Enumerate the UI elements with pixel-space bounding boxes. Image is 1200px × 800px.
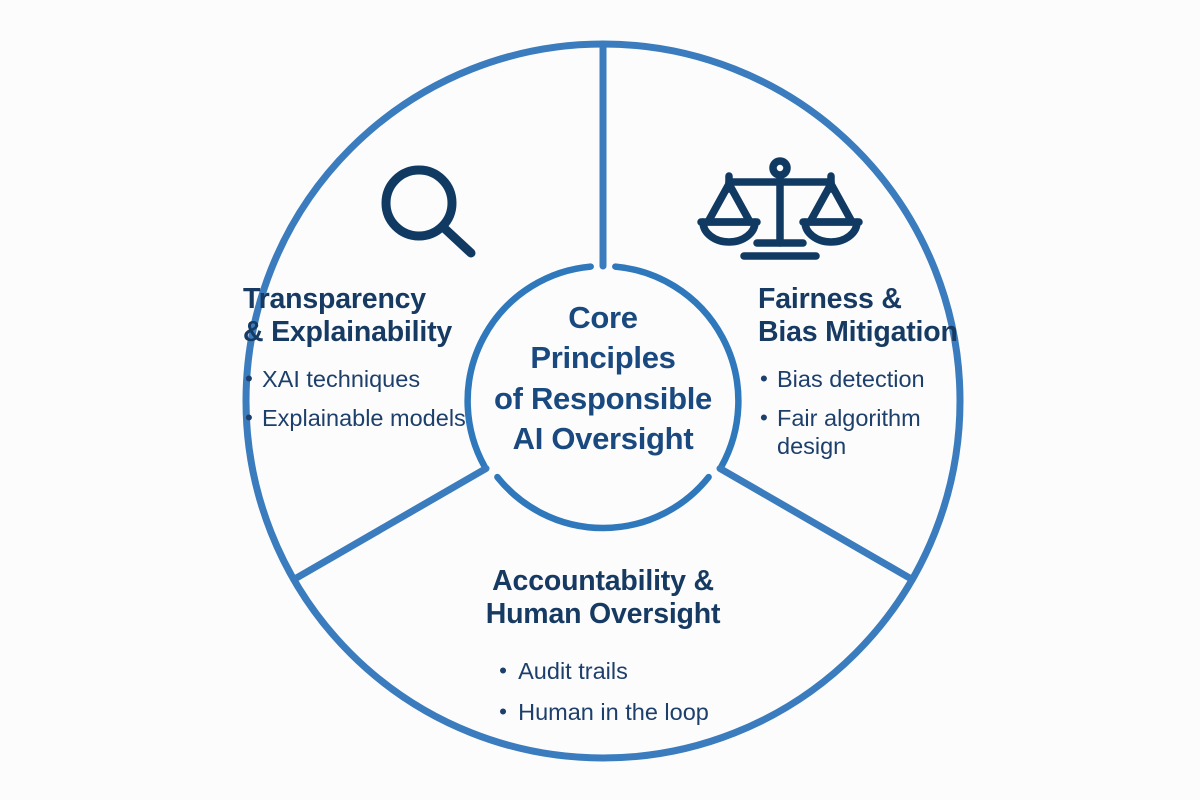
bullet-dot-icon: • xyxy=(499,657,507,684)
segment-accountability-title-line-2: Human Oversight xyxy=(393,598,813,631)
segment-fairness-bullets: •Bias detection •Fair algorithm design xyxy=(758,365,996,461)
segment-transparency-bullets: •XAI techniques •Explainable models xyxy=(243,365,501,432)
core-hub: Core Principles of Responsible AI Oversi… xyxy=(468,298,738,459)
list-item: •Bias detection xyxy=(758,365,996,394)
segment-accountability-title: Accountability & Human Oversight xyxy=(393,565,813,631)
segment-transparency-title-line-1: Transparency xyxy=(243,283,501,316)
segment-transparency-title: Transparency & Explainability xyxy=(243,283,501,349)
list-item: •XAI techniques xyxy=(243,365,501,394)
bullet-dot-icon: • xyxy=(499,698,507,725)
diagram-canvas: Core Principles of Responsible AI Oversi… xyxy=(0,0,1200,800)
list-item: •Audit trails xyxy=(497,657,709,686)
bullet-text: Audit trails xyxy=(518,658,628,684)
segment-accountability-bullets-wrap: •Audit trails •Human in the loop xyxy=(393,631,813,726)
bullet-dot-icon: • xyxy=(760,365,768,392)
segment-transparency-title-line-2: & Explainability xyxy=(243,316,501,349)
segment-accountability-bullets: •Audit trails •Human in the loop xyxy=(497,645,709,726)
bullet-text: Bias detection xyxy=(777,366,925,392)
bullet-text: Explainable models xyxy=(262,405,466,431)
bullet-dot-icon: • xyxy=(760,404,768,431)
bullet-text: XAI techniques xyxy=(262,366,420,392)
core-hub-line-4: AI Oversight xyxy=(468,419,738,459)
segment-fairness-title: Fairness & Bias Mitigation xyxy=(758,283,996,349)
segment-fairness-title-line-2: Bias Mitigation xyxy=(758,316,996,349)
bullet-dot-icon: • xyxy=(245,365,253,392)
list-item: •Fair algorithm design xyxy=(758,404,996,461)
bullet-text: Human in the loop xyxy=(518,699,709,725)
list-item: •Explainable models xyxy=(243,404,501,433)
core-hub-line-1: Core xyxy=(468,298,738,338)
core-hub-line-2: Principles xyxy=(468,338,738,378)
segment-accountability-title-line-1: Accountability & xyxy=(393,565,813,598)
segment-accountability[interactable]: Accountability & Human Oversight •Audit … xyxy=(393,565,813,726)
bullet-text: Fair algorithm design xyxy=(777,405,921,460)
segment-transparency[interactable]: Transparency & Explainability •XAI techn… xyxy=(243,283,501,432)
segment-fairness-title-line-1: Fairness & xyxy=(758,283,996,316)
list-item: •Human in the loop xyxy=(497,698,709,727)
segment-fairness[interactable]: Fairness & Bias Mitigation •Bias detecti… xyxy=(758,283,996,461)
bullet-dot-icon: • xyxy=(245,404,253,431)
